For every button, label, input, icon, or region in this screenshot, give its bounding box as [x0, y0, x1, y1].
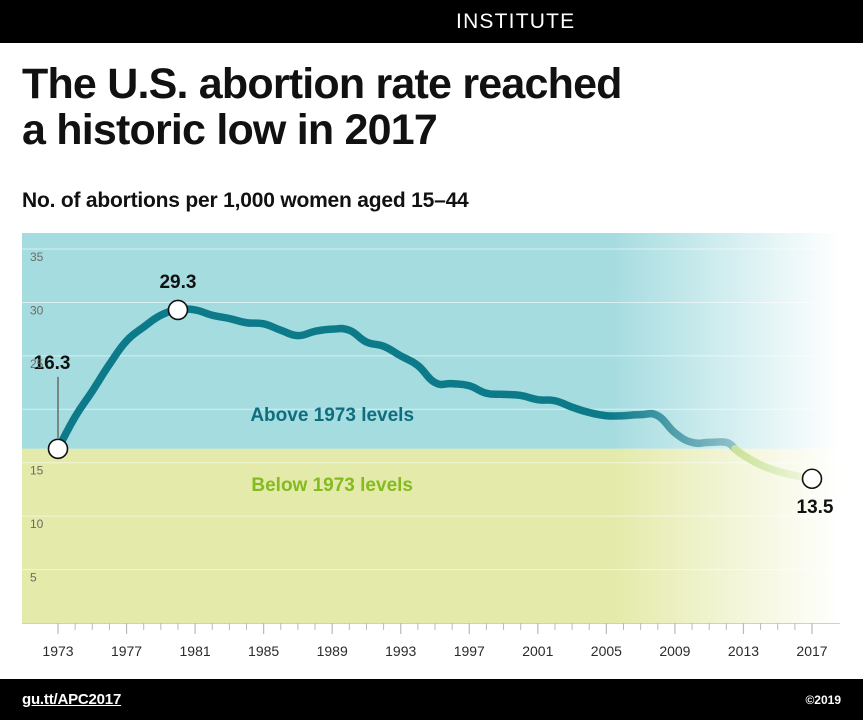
infographic-page: GUTTMACHER INSTITUTE The U.S. abortion r… [0, 0, 863, 720]
data-point-marker[interactable] [168, 300, 187, 319]
point-label: 13.5 [797, 497, 834, 518]
band-above-1973 [22, 233, 840, 449]
footer-bar: gu.tt/APC2017 ©2019 [0, 679, 863, 720]
masthead-bar: GUTTMACHER INSTITUTE [0, 0, 863, 43]
brand-wordmark: GUTTMACHER INSTITUTE [288, 10, 576, 34]
x-tick-label: 1989 [317, 643, 348, 659]
y-tick-label: 30 [30, 303, 44, 317]
y-tick-label: 15 [30, 464, 44, 478]
source-link[interactable]: gu.tt/APC2017 [22, 691, 121, 708]
x-axis: 1973197719811985198919931997200120052009… [22, 623, 840, 665]
x-axis-canvas: 1973197719811985198919931997200120052009… [22, 623, 840, 665]
x-tick-label: 2013 [728, 643, 759, 659]
x-tick-label: 1973 [42, 643, 73, 659]
point-label: 29.3 [159, 272, 196, 293]
y-tick-label: 10 [30, 517, 44, 531]
x-tick-label: 1985 [248, 643, 279, 659]
x-tick-label: 1977 [111, 643, 142, 659]
x-tick-label: 1993 [385, 643, 416, 659]
x-tick-label: 1981 [180, 643, 211, 659]
data-point-marker[interactable] [803, 469, 822, 488]
page-subtitle: No. of abortions per 1,000 women aged 15… [22, 189, 469, 213]
page-title: The U.S. abortion rate reached a histori… [22, 62, 842, 153]
annotation-below-1973-levels: Below 1973 levels [251, 475, 413, 496]
chart-canvas: 16.329.313.5 51015253035 Above 1973 leve… [22, 233, 840, 623]
x-tick-label: 2005 [591, 643, 622, 659]
threshold-bands [22, 233, 840, 623]
x-tick-label: 1997 [454, 643, 485, 659]
band-below-1973 [22, 449, 840, 623]
line-chart: 16.329.313.5 51015253035 Above 1973 leve… [22, 233, 840, 623]
copyright-text: ©2019 [805, 693, 841, 707]
x-tick-label: 2017 [796, 643, 827, 659]
data-point-marker[interactable] [49, 439, 68, 458]
brand-secondary-text: INSTITUTE [456, 10, 575, 33]
brand-primary-text: GUTTMACHER [288, 10, 449, 33]
page-title-line-2: a historic low in 2017 [22, 108, 842, 154]
y-tick-label: 5 [30, 571, 37, 585]
x-tick-label: 2009 [659, 643, 690, 659]
page-title-line-1: The U.S. abortion rate reached [22, 62, 842, 108]
y-tick-label: 35 [30, 250, 44, 264]
y-tick-label: 25 [30, 357, 44, 371]
x-tick-label: 2001 [522, 643, 553, 659]
x-axis-ticks: 1973197719811985198919931997200120052009… [22, 623, 840, 659]
annotation-above-1973-levels: Above 1973 levels [250, 405, 414, 426]
